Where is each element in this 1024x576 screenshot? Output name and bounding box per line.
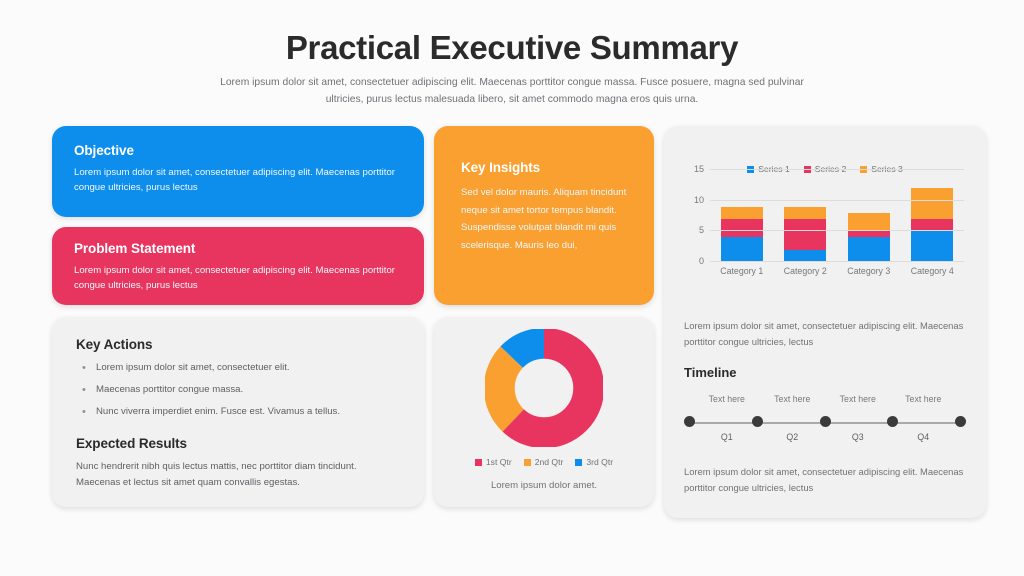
timeline-quarter-label: Q4 <box>891 432 957 442</box>
x-tick-label: Category 4 <box>901 266 965 276</box>
grid-line <box>710 261 964 262</box>
bar-chart: 051015 Category 1 Category 2 Category 3 … <box>680 164 970 314</box>
key-actions-card[interactable]: Key Actions Lorem ipsum dolor sit amet, … <box>52 317 424 507</box>
content-grid: Objective Lorem ipsum dolor sit amet, co… <box>52 126 984 518</box>
key-insights-card[interactable]: Key Insights Sed vel dolor mauris. Aliqu… <box>434 126 654 305</box>
timeline-labels: Text here Text here Text here Text here … <box>694 394 956 450</box>
key-insights-title: Key Insights <box>461 160 630 175</box>
bar-segment <box>848 237 890 262</box>
y-tick-label: 15 <box>680 164 704 174</box>
slide: Practical Executive Summary Lorem ipsum … <box>0 0 1024 576</box>
y-tick-label: 0 <box>680 256 704 266</box>
stacked-bar[interactable] <box>848 213 890 262</box>
key-actions-title: Key Actions <box>76 337 400 352</box>
legend-item-3rd-qtr: 3rd Qtr <box>575 457 613 467</box>
y-tick-label: 10 <box>680 195 704 205</box>
legend-label: 1st Qtr <box>486 457 512 467</box>
bar-slot <box>774 207 838 262</box>
grid-line <box>710 230 964 231</box>
timeline-marker-label: Text here <box>825 394 891 404</box>
analytics-panel[interactable]: 051015 Category 1 Category 2 Category 3 … <box>664 126 986 518</box>
donut-chart-wrap: 1st Qtr 2nd Qtr 3rd Qtr Lorem ipsu <box>434 317 654 491</box>
bar-chart-bars <box>710 170 964 262</box>
timeline-title: Timeline <box>684 365 966 380</box>
bar-chart-plot <box>710 170 964 262</box>
x-tick-label: Category 3 <box>837 266 901 276</box>
bar-segment <box>721 207 763 219</box>
timeline: Text here Text here Text here Text here … <box>684 394 966 450</box>
objective-card-content: Objective Lorem ipsum dolor sit amet, co… <box>52 126 424 212</box>
donut-chart-legend: 1st Qtr 2nd Qtr 3rd Qtr <box>434 457 654 467</box>
timeline-bottom-labels: Q1 Q2 Q3 Q4 <box>694 432 956 442</box>
timeline-marker-label: Text here <box>891 394 957 404</box>
stacked-bar[interactable] <box>721 207 763 262</box>
bar-segment <box>721 219 763 237</box>
bar-chart-x-labels: Category 1 Category 2 Category 3 Categor… <box>710 266 964 276</box>
legend-item-2nd-qtr: 2nd Qtr <box>524 457 564 467</box>
grid-line <box>710 200 964 201</box>
problem-statement-body: Lorem ipsum dolor sit amet, consectetuer… <box>74 263 402 293</box>
bar-slot <box>710 207 774 262</box>
bar-segment <box>721 237 763 262</box>
legend-swatch-icon <box>524 459 531 466</box>
list-item: Maecenas porttitor congue massa. <box>80 383 400 398</box>
timeline-dot[interactable] <box>955 416 966 427</box>
bar-segment <box>784 219 826 250</box>
timeline-marker-label: Text here <box>760 394 826 404</box>
content-row: Objective Lorem ipsum dolor sit amet, co… <box>52 126 984 518</box>
middle-column: Key Insights Sed vel dolor mauris. Aliqu… <box>434 126 654 518</box>
slide-header: Practical Executive Summary Lorem ipsum … <box>0 0 1024 109</box>
bar-segment <box>911 231 953 262</box>
legend-swatch-icon <box>475 459 482 466</box>
expected-results-body: Nunc hendrerit nibh quis lectus mattis, … <box>76 459 400 492</box>
list-item: Lorem ipsum dolor sit amet, consectetuer… <box>80 361 400 376</box>
bar-segment <box>911 188 953 219</box>
key-insights-body: Sed vel dolor mauris. Aliquam tincidunt … <box>461 184 630 255</box>
problem-statement-title: Problem Statement <box>74 241 402 256</box>
objective-card-title: Objective <box>74 143 402 158</box>
legend-label: 3rd Qtr <box>586 457 613 467</box>
problem-statement-card[interactable]: Problem Statement Lorem ipsum dolor sit … <box>52 227 424 305</box>
panel-note-bottom: Lorem ipsum dolor sit amet, consectetuer… <box>680 464 970 495</box>
timeline-section: Timeline Text here Text here Text here T… <box>680 365 970 450</box>
donut-chart <box>485 329 603 447</box>
timeline-marker-label: Text here <box>694 394 760 404</box>
list-item: Nunc viverra imperdiet enim. Fusce est. … <box>80 405 400 420</box>
timeline-top-labels: Text here Text here Text here Text here <box>694 394 956 404</box>
timeline-quarter-label: Q1 <box>694 432 760 442</box>
x-tick-label: Category 1 <box>710 266 774 276</box>
grid-line <box>710 169 964 170</box>
donut-chart-caption: Lorem ipsum dolor amet. <box>434 480 654 491</box>
x-tick-label: Category 2 <box>774 266 838 276</box>
problem-statement-content: Problem Statement Lorem ipsum dolor sit … <box>52 227 424 307</box>
page-subtitle: Lorem ipsum dolor sit amet, consectetuer… <box>212 75 812 109</box>
legend-item-1st-qtr: 1st Qtr <box>475 457 512 467</box>
key-actions-list: Lorem ipsum dolor sit amet, consectetuer… <box>80 361 400 420</box>
timeline-quarter-label: Q3 <box>825 432 891 442</box>
objective-card-body: Lorem ipsum dolor sit amet, consectetuer… <box>74 165 402 195</box>
y-tick-label: 5 <box>680 225 704 235</box>
stacked-bar[interactable] <box>784 207 826 262</box>
right-column: 051015 Category 1 Category 2 Category 3 … <box>664 126 986 518</box>
bar-segment <box>848 213 890 231</box>
bar-segment <box>784 207 826 219</box>
key-actions-content: Key Actions Lorem ipsum dolor sit amet, … <box>52 317 424 512</box>
page-title: Practical Executive Summary <box>0 30 1024 66</box>
donut-chart-card[interactable]: 1st Qtr 2nd Qtr 3rd Qtr Lorem ipsu <box>434 317 654 507</box>
bar-slot <box>837 213 901 262</box>
left-column: Objective Lorem ipsum dolor sit amet, co… <box>52 126 424 518</box>
legend-label: 2nd Qtr <box>535 457 564 467</box>
expected-results-title: Expected Results <box>76 436 400 451</box>
objective-card[interactable]: Objective Lorem ipsum dolor sit amet, co… <box>52 126 424 217</box>
panel-note-top: Lorem ipsum dolor sit amet, consectetuer… <box>680 318 970 349</box>
timeline-quarter-label: Q2 <box>760 432 826 442</box>
key-insights-content: Key Insights Sed vel dolor mauris. Aliqu… <box>434 126 654 273</box>
legend-swatch-icon <box>575 459 582 466</box>
